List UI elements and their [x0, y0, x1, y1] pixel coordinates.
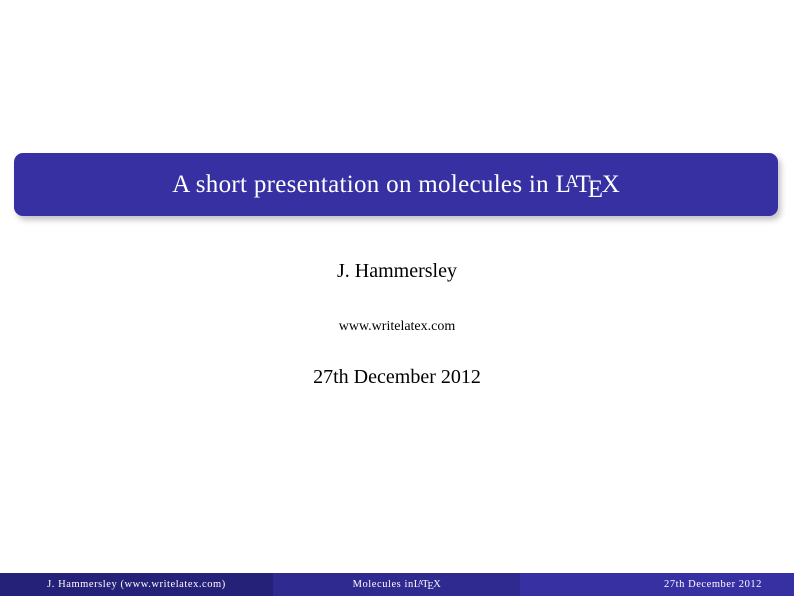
title-text-prefix: A short presentation on molecules in [172, 171, 555, 198]
footline-latex-logo-a: A [418, 578, 423, 587]
page-title: A short presentation on molecules in LAT… [172, 172, 620, 197]
footline-latex-logo: LATEX [414, 579, 441, 590]
footline-date: 27th December 2012 [520, 573, 780, 596]
title-block: A short presentation on molecules in LAT… [14, 153, 778, 216]
latex-logo: LATEX [556, 172, 620, 197]
presentation-date: 27th December 2012 [0, 366, 794, 389]
latex-logo-x: X [602, 171, 620, 198]
footline-latex-logo-e: E [427, 581, 433, 592]
latex-logo-a: A [565, 171, 578, 191]
footline-page-number: 1 / 8 [780, 573, 794, 596]
footline-author: J. Hammersley (www.writelatex.com) [0, 573, 273, 596]
footline-latex-logo-x: X [433, 579, 441, 590]
author-name: J. Hammersley [0, 260, 794, 283]
footline-title-prefix: Molecules in [353, 579, 414, 590]
presentation-slide: A short presentation on molecules in LAT… [0, 0, 794, 596]
latex-logo-e: E [588, 176, 603, 203]
title-banner: A short presentation on molecules in LAT… [14, 153, 778, 216]
institute-name: www.writelatex.com [0, 319, 794, 335]
footline: J. Hammersley (www.writelatex.com) Molec… [0, 573, 794, 596]
footline-title: Molecules in LATEX [273, 573, 520, 596]
